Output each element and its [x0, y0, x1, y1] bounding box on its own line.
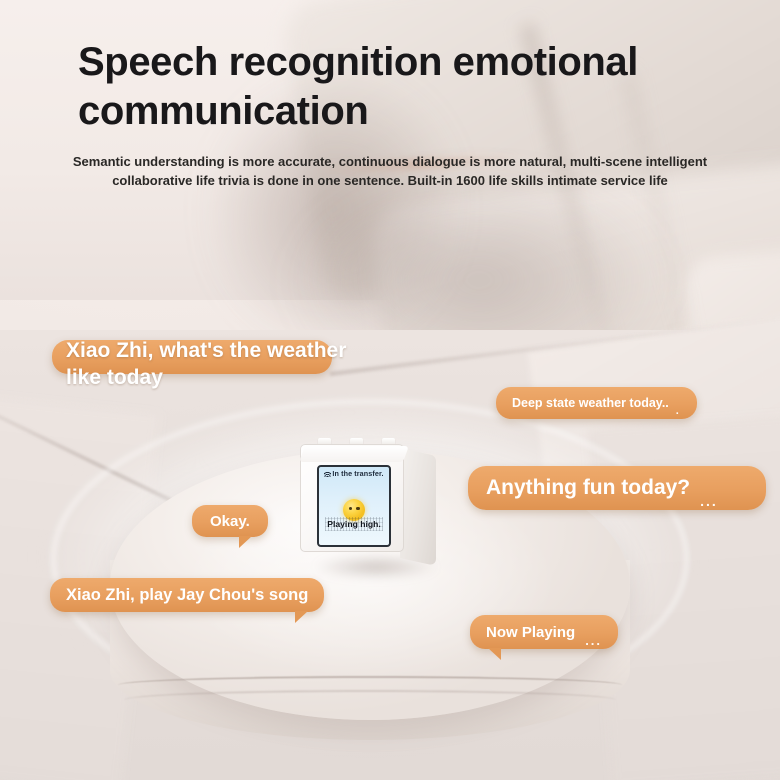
speech-bubble-weather-question[interactable]: Xiao Zhi, what's the weather like today — [52, 340, 332, 374]
screen-status-bar: In the transfer. — [319, 469, 389, 478]
speech-bubble-anything-fun-dots: ... — [700, 494, 718, 510]
speech-bubble-deep-state-text: Deep state weather today.. — [512, 396, 669, 410]
screen-status-text: In the transfer. — [332, 469, 383, 478]
podium-table-groove-secondary — [124, 690, 616, 710]
speech-bubble-deep-state-dots: . — [676, 406, 681, 419]
speech-bubble-weather-question-text: Xiao Zhi, what's the weather like today — [66, 337, 366, 391]
device-front-face: In the transfer. Playing high. — [300, 444, 404, 552]
speech-bubble-okay-text: Okay. — [210, 513, 250, 530]
page-subtitle: Semantic understanding is more accurate,… — [58, 152, 722, 190]
device-screen[interactable]: In the transfer. Playing high. — [317, 465, 391, 547]
speech-bubble-now-playing-dots: ... — [585, 634, 602, 649]
device-top-face — [299, 446, 409, 462]
smiley-eye-left — [349, 507, 352, 510]
screen-bottom-text: Playing high. — [319, 519, 389, 529]
product-promo-image: In the transfer. Playing high. Xiao Zhi,… — [0, 0, 780, 780]
speech-bubble-anything-fun-text: Anything fun today? — [486, 476, 690, 500]
speech-bubble-jay-chou-text: Xiao Zhi, play Jay Chou's song — [66, 586, 308, 605]
speech-bubble-now-playing[interactable]: Now Playing ... — [470, 615, 618, 649]
wifi-icon — [324, 471, 331, 477]
device-side-panel — [400, 448, 436, 566]
speech-bubble-jay-chou[interactable]: Xiao Zhi, play Jay Chou's song — [50, 578, 324, 612]
speech-bubble-okay[interactable]: Okay. — [192, 505, 268, 537]
speech-bubble-now-playing-text: Now Playing — [486, 624, 575, 641]
smiley-eye-right — [356, 507, 359, 510]
page-title: Speech recognition emotional communicati… — [78, 38, 718, 136]
speech-bubble-anything-fun[interactable]: Anything fun today? ... — [468, 466, 766, 510]
speech-bubble-deep-state[interactable]: Deep state weather today.. . — [496, 387, 697, 419]
smart-speaker-device[interactable]: In the transfer. Playing high. — [300, 438, 440, 560]
